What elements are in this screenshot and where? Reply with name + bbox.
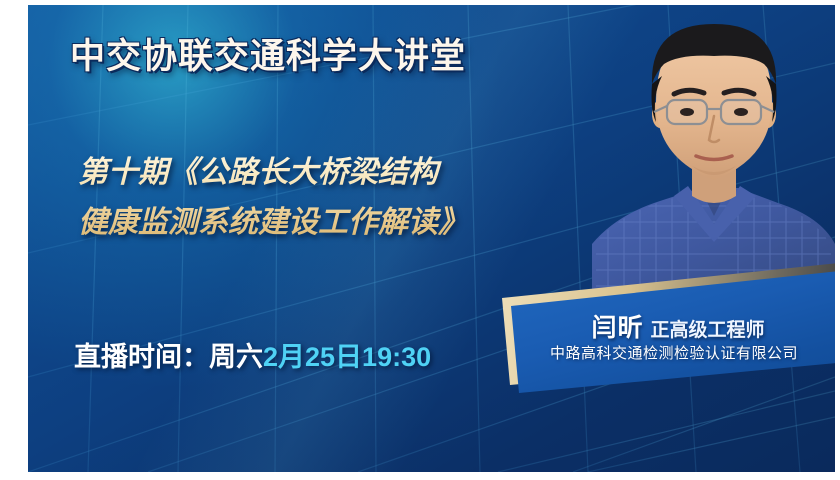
live-event-poster: 中交协联交通科学大讲堂 第十期《公路长大桥梁结构 健康监测系统建设工作解读》 直… <box>0 0 840 480</box>
episode-subtitle: 第十期《公路长大桥梁结构 健康监测系统建设工作解读》 <box>78 148 598 248</box>
plate-text-group: 闫昕正高级工程师 中路高科交通检测检验认证有限公司 <box>498 260 835 395</box>
speaker-portrait-photo <box>588 10 835 295</box>
speaker-name-plate: 闫昕正高级工程师 中路高科交通检测检验认证有限公司 <box>498 260 835 395</box>
live-datetime-value: 2月25日19:30 <box>263 342 431 372</box>
page-title: 中交协联交通科学大讲堂 <box>70 28 466 79</box>
live-time-row: 直播时间：周六2月25日19:30 <box>74 335 431 374</box>
live-time-label: 直播时间： <box>74 342 209 372</box>
speaker-organization: 中路高科交通检测检验认证有限公司 <box>498 342 835 363</box>
poster-stage: 中交协联交通科学大讲堂 第十期《公路长大桥梁结构 健康监测系统建设工作解读》 直… <box>28 5 835 472</box>
speaker-name: 闫昕 <box>591 314 643 342</box>
live-weekday: 周六 <box>209 342 263 372</box>
speaker-identity-line: 闫昕正高级工程师 <box>498 308 835 344</box>
speaker-role: 正高级工程师 <box>651 320 765 341</box>
